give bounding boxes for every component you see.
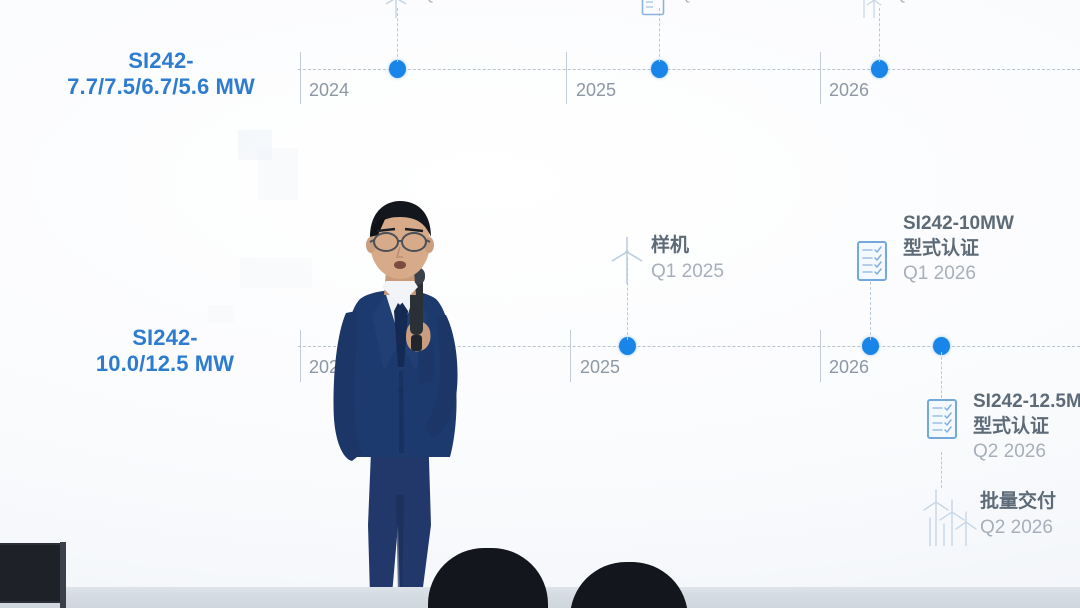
row-label-top-line1: SI242- xyxy=(30,48,292,74)
milestone-bottom-2-date: Q1 2026 xyxy=(903,261,1014,286)
milestone-top-2-date: Q1 2025 xyxy=(680,0,738,6)
tick-top-2025 xyxy=(566,52,567,104)
projected-slide: SI242- 7.7/7.5/6.7/5.6 MW 2024 2025 2026 xyxy=(0,0,1080,560)
tick-bottom-2026 xyxy=(820,330,821,382)
year-top-2025: 2025 xyxy=(576,80,616,101)
leader-bottom-2 xyxy=(870,282,871,340)
wind-farm-icon xyxy=(922,488,978,551)
row-label-bottom: SI242- 10.0/12.5 MW xyxy=(40,325,290,377)
wind-turbine-icon xyxy=(609,236,645,289)
milestone-bottom-3-title: SI242-12.5MW xyxy=(973,390,1080,415)
milestone-bottom-4-date: Q2 2026 xyxy=(980,515,1056,540)
tick-bottom-2025 xyxy=(570,330,571,382)
speaker-figure xyxy=(300,195,500,595)
audience-chair xyxy=(0,540,78,608)
certificate-icon xyxy=(855,240,889,287)
year-bottom-2026: 2026 xyxy=(829,357,869,378)
milestone-bottom-3-date: Q2 2026 xyxy=(973,439,1080,464)
row-label-top: SI242- 7.7/7.5/6.7/5.6 MW xyxy=(30,48,292,100)
row-label-bottom-line1: SI242- xyxy=(40,325,290,351)
milestone-dot-top-1[interactable] xyxy=(389,60,406,78)
tick-top-2024 xyxy=(300,52,301,104)
year-top-2026: 2026 xyxy=(829,80,869,101)
row-label-bottom-line2: 10.0/12.5 MW xyxy=(40,351,290,377)
milestone-bottom-3-subtitle: 型式认证 xyxy=(973,415,1080,440)
certificate-icon xyxy=(925,398,959,445)
leader-bottom-3 xyxy=(941,352,942,398)
milestone-bottom-4-title: 批量交付 xyxy=(980,490,1056,515)
certificate-icon xyxy=(640,0,666,21)
leader-bottom-4 xyxy=(941,452,942,488)
milestone-bottom-2-subtitle: 型式认证 xyxy=(903,237,1014,262)
milestone-dot-top-3[interactable] xyxy=(871,60,888,78)
milestone-dot-top-2[interactable] xyxy=(651,60,668,78)
milestone-top-1-date: Q3 2024 xyxy=(423,0,481,6)
milestone-bottom-1-title: 样机 xyxy=(651,234,724,259)
wind-turbine-icon xyxy=(383,0,409,23)
timeline-axis-top xyxy=(298,69,1080,70)
tick-top-2026 xyxy=(820,52,821,104)
year-bottom-2025: 2025 xyxy=(580,357,620,378)
milestone-bottom-1-date: Q1 2025 xyxy=(651,259,724,284)
milestone-top-3-date: Q2 2025 xyxy=(895,0,953,6)
year-top-2024: 2024 xyxy=(309,80,349,101)
presentation-screenshot: SI242- 7.7/7.5/6.7/5.6 MW 2024 2025 2026 xyxy=(0,0,1080,608)
milestone-bottom-2-title: SI242-10MW xyxy=(903,212,1014,237)
wind-farm-icon xyxy=(855,0,885,23)
row-label-top-line2: 7.7/7.5/6.7/5.6 MW xyxy=(30,74,292,100)
